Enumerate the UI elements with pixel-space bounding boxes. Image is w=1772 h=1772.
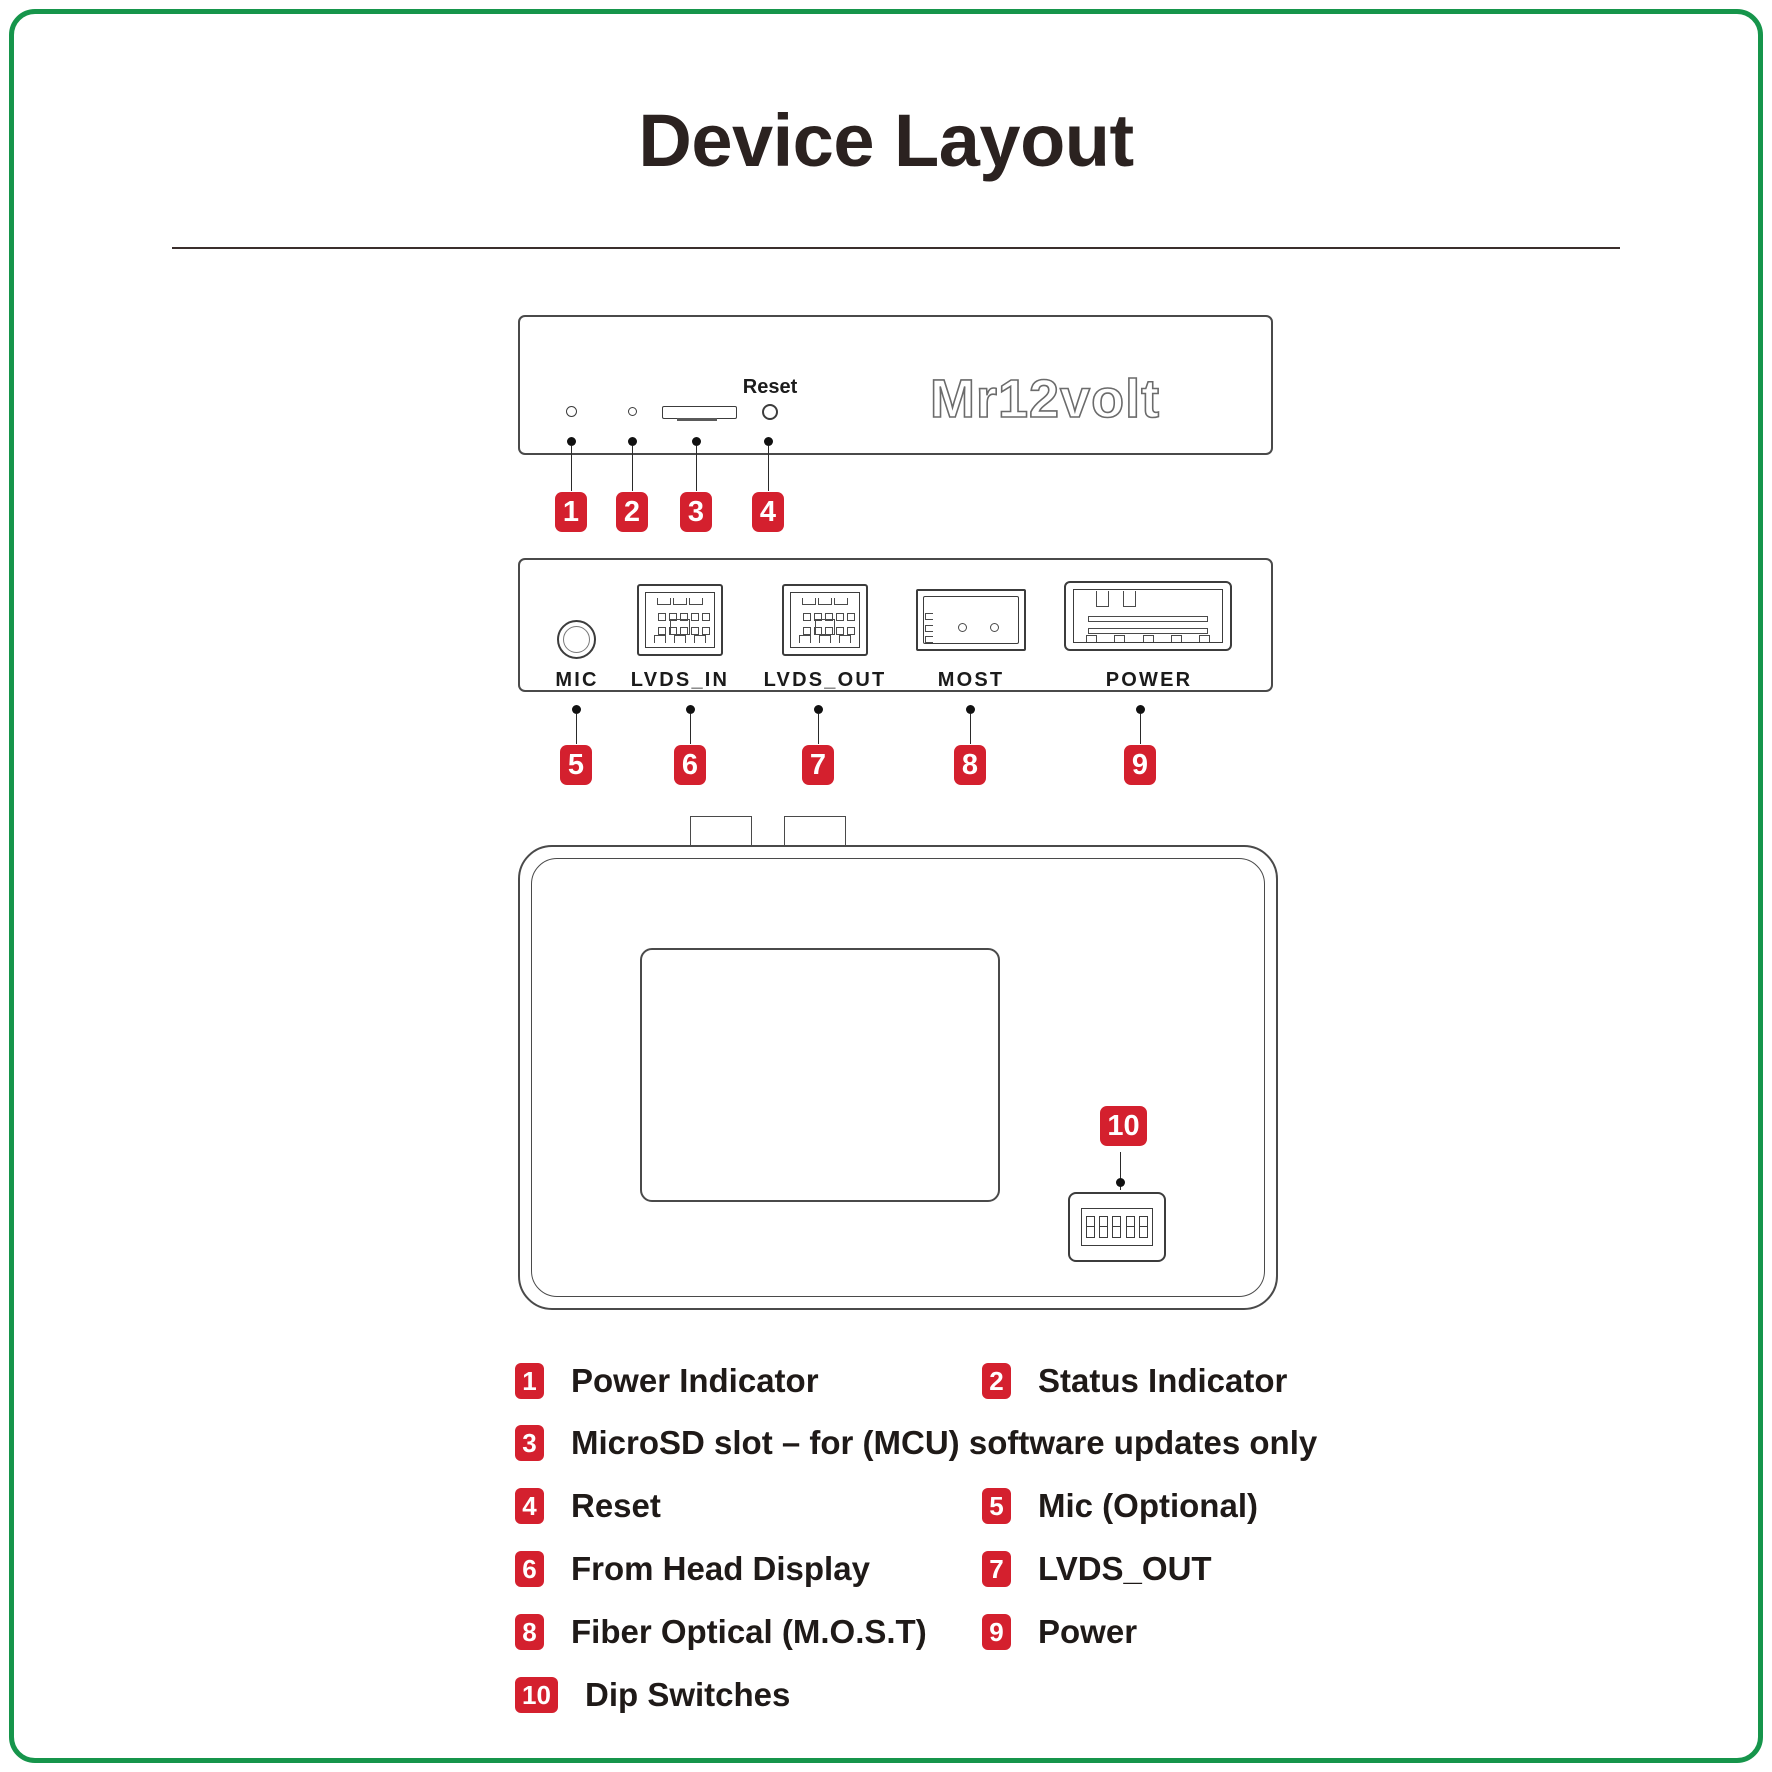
- port-label-most: MOST: [911, 669, 1031, 692]
- legend-item-6: 6 From Head Display: [515, 1550, 870, 1588]
- dip-switch-3: [1112, 1216, 1121, 1238]
- leader-dot-7: [814, 705, 823, 714]
- dip-switch-4: [1126, 1216, 1135, 1238]
- callout-badge-5: 5: [560, 745, 592, 785]
- lvds-out-connector-icon: [782, 584, 868, 656]
- main-body-window: [640, 948, 1000, 1202]
- power-feet: [1086, 635, 1210, 642]
- legend-badge-6: 6: [515, 1551, 544, 1587]
- leader-dot-2: [628, 437, 637, 446]
- power-contact-row-1: [1088, 616, 1208, 622]
- leader-line-1: [571, 446, 572, 491]
- dip-switch-1: [1086, 1216, 1095, 1238]
- mic-jack-icon: [557, 620, 596, 659]
- legend-item-4: 4 Reset: [515, 1487, 661, 1525]
- legend-badge-9: 9: [982, 1614, 1011, 1650]
- page-title: Device Layout: [0, 98, 1772, 183]
- legend-item-10: 10 Dip Switches: [515, 1676, 790, 1714]
- lvds-in-feet: [654, 635, 706, 643]
- leader-line-2: [632, 446, 633, 491]
- lvds-out-notches: [801, 598, 849, 605]
- legend-badge-10: 10: [515, 1677, 558, 1713]
- port-label-mic: MIC: [517, 669, 637, 692]
- leader-dot-8: [966, 705, 975, 714]
- callout-badge-10: 10: [1100, 1106, 1147, 1146]
- legend-label-4: Reset: [571, 1487, 661, 1525]
- leader-line-8: [970, 714, 971, 744]
- legend-badge-2: 2: [982, 1363, 1011, 1399]
- lvds-in-latch: [670, 619, 690, 635]
- lvds-out-latch: [815, 619, 835, 635]
- port-label-power: POWER: [1089, 669, 1209, 692]
- legend-item-8: 8 Fiber Optical (M.O.S.T): [515, 1613, 927, 1651]
- leader-dot-4: [764, 437, 773, 446]
- leader-line-9: [1140, 714, 1141, 744]
- callout-badge-7: 7: [802, 745, 834, 785]
- legend-badge-1: 1: [515, 1363, 544, 1399]
- leader-dot-10: [1116, 1178, 1125, 1187]
- leader-line-7: [818, 714, 819, 744]
- leader-dot-3: [692, 437, 701, 446]
- status-indicator-led-icon: [628, 407, 637, 416]
- title-divider: [172, 247, 1620, 249]
- leader-line-5: [576, 714, 577, 744]
- most-connector-inner: [923, 596, 1019, 644]
- legend-item-2: 2 Status Indicator: [982, 1362, 1287, 1400]
- legend-label-6: From Head Display: [571, 1550, 870, 1588]
- leader-dot-9: [1136, 705, 1145, 714]
- leader-line-4: [768, 446, 769, 491]
- microsd-slot-icon: [662, 406, 737, 419]
- legend-badge-4: 4: [515, 1488, 544, 1524]
- power-connector-icon: [1064, 581, 1232, 651]
- legend-label-10: Dip Switches: [585, 1676, 790, 1714]
- port-label-lvds-out: LVDS_OUT: [758, 669, 892, 692]
- legend-label-2: Status Indicator: [1038, 1362, 1287, 1400]
- reset-label: Reset: [730, 376, 810, 399]
- callout-badge-9: 9: [1124, 745, 1156, 785]
- legend-badge-8: 8: [515, 1614, 544, 1650]
- reset-hole-icon: [762, 404, 778, 420]
- port-label-lvds-in: LVDS_IN: [620, 669, 740, 692]
- body-tab-right: [784, 816, 846, 846]
- legend-badge-7: 7: [982, 1551, 1011, 1587]
- leader-dot-5: [572, 705, 581, 714]
- lvds-out-feet: [799, 635, 851, 643]
- most-connector-icon: [916, 589, 1026, 651]
- leader-line-6: [690, 714, 691, 744]
- legend-label-3: MicroSD slot – for (MCU) software update…: [571, 1424, 1317, 1462]
- callout-badge-3: 3: [680, 492, 712, 532]
- leader-dot-1: [567, 437, 576, 446]
- legend-label-7: LVDS_OUT: [1038, 1550, 1212, 1588]
- callout-badge-4: 4: [752, 492, 784, 532]
- brand-logo: Mr12volt: [930, 368, 1160, 430]
- lvds-in-connector-icon: [637, 584, 723, 656]
- legend-badge-3: 3: [515, 1425, 544, 1461]
- legend-label-8: Fiber Optical (M.O.S.T): [571, 1613, 927, 1651]
- body-tab-left: [690, 816, 752, 846]
- legend-item-7: 7 LVDS_OUT: [982, 1550, 1212, 1588]
- dip-switch-inner: [1081, 1208, 1153, 1246]
- most-fiber-hole-b: [990, 623, 999, 632]
- legend-item-9: 9 Power: [982, 1613, 1137, 1651]
- power-connector-inner: [1073, 589, 1223, 643]
- leader-line-3: [696, 446, 697, 491]
- callout-badge-2: 2: [616, 492, 648, 532]
- power-indicator-led-icon: [566, 406, 577, 417]
- callout-badge-6: 6: [674, 745, 706, 785]
- legend-item-1: 1 Power Indicator: [515, 1362, 819, 1400]
- leader-dot-6: [686, 705, 695, 714]
- legend-label-5: Mic (Optional): [1038, 1487, 1258, 1525]
- power-contact-row-2: [1088, 628, 1208, 634]
- device-layout-page: Device Layout Reset Mr12volt 1 2 3 4: [0, 0, 1772, 1772]
- legend-item-5: 5 Mic (Optional): [982, 1487, 1258, 1525]
- lvds-in-notches: [656, 598, 704, 605]
- dip-switch-block-icon: [1068, 1192, 1166, 1262]
- legend-label-9: Power: [1038, 1613, 1137, 1651]
- callout-badge-8: 8: [954, 745, 986, 785]
- legend-badge-5: 5: [982, 1488, 1011, 1524]
- power-keying-slots: [1096, 591, 1182, 607]
- lvds-in-connector-inner: [645, 592, 715, 648]
- most-fiber-hole-a: [958, 623, 967, 632]
- lvds-out-connector-inner: [790, 592, 860, 648]
- dip-switch-5: [1139, 1216, 1148, 1238]
- most-side-tabs: [925, 613, 933, 643]
- legend-label-1: Power Indicator: [571, 1362, 819, 1400]
- callout-badge-1: 1: [555, 492, 587, 532]
- dip-switch-2: [1099, 1216, 1108, 1238]
- legend-item-3: 3 MicroSD slot – for (MCU) software upda…: [515, 1424, 1317, 1462]
